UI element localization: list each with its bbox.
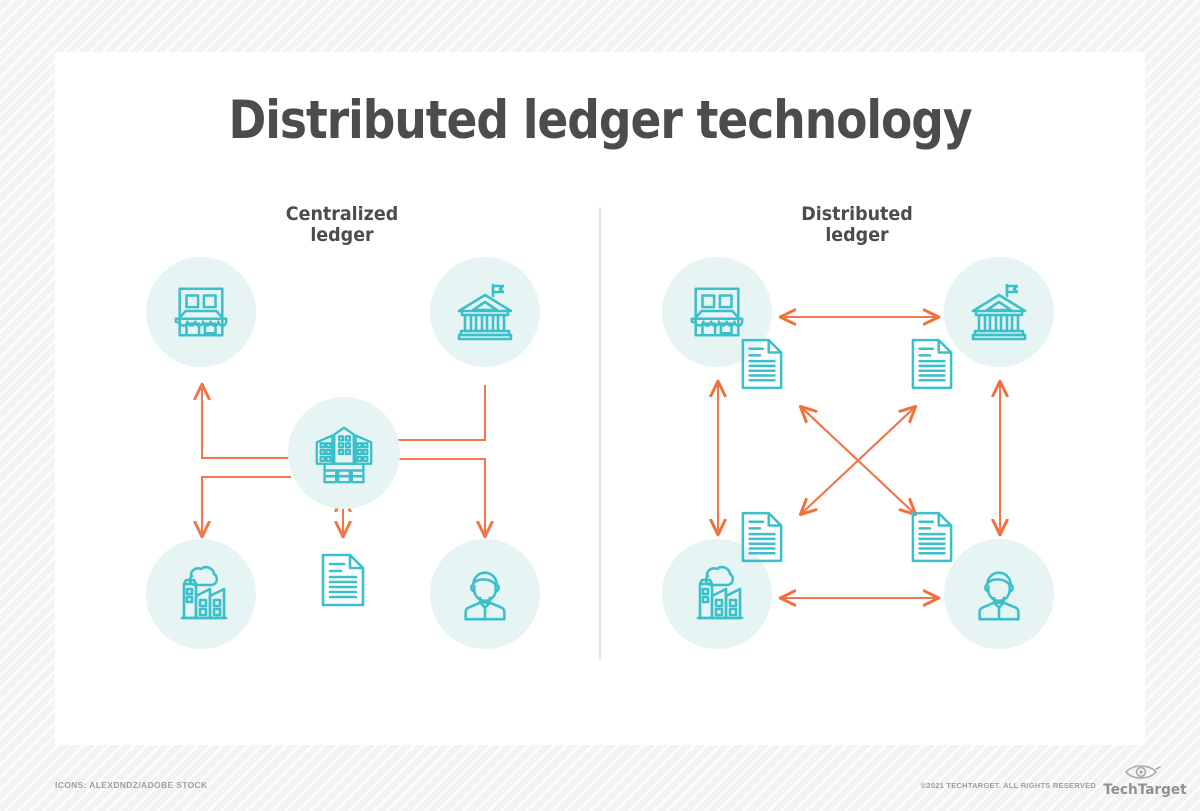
document-distributed-person[interactable] <box>910 510 954 564</box>
bank-icon <box>967 280 1031 344</box>
document-distributed-store[interactable] <box>740 337 784 391</box>
document-icon <box>910 337 954 391</box>
arrow-factory-bank <box>801 407 915 514</box>
arrow-hub-to-store <box>202 385 291 458</box>
arrow-store-person <box>801 407 915 514</box>
person-icon <box>968 563 1030 625</box>
document-distributed-factory[interactable] <box>740 510 784 564</box>
centralized-heading-line1: Centralized <box>213 204 471 225</box>
node-distributed-bank[interactable] <box>944 257 1054 367</box>
document-icon <box>740 510 784 564</box>
arrow-person-store <box>801 407 915 514</box>
content-card: Distributed ledger technology Centralize… <box>55 52 1145 745</box>
techtarget-logo: TechTarget <box>1100 760 1190 802</box>
document-icon <box>740 337 784 391</box>
arrow-bank-factory <box>801 407 915 514</box>
document-distributed-bank[interactable] <box>910 337 954 391</box>
distributed-heading-line1: Distributed <box>728 204 986 225</box>
node-centralized-bank[interactable] <box>430 257 540 367</box>
techtarget-wordmark: TechTarget <box>1103 782 1187 798</box>
copyright-notice: ©2021 TECHTARGET. ALL RIGHTS RESERVED <box>921 781 1096 790</box>
distributed-heading: Distributed ledger <box>728 204 986 246</box>
node-centralized-factory[interactable] <box>146 539 256 649</box>
node-centralized-store[interactable] <box>146 257 256 367</box>
document-icon <box>320 552 366 608</box>
distributed-heading-line2: ledger <box>728 225 986 246</box>
bank-icon <box>453 280 517 344</box>
icon-credit: ICONS: ALEXDNDZ/ADOBE STOCK <box>55 780 208 790</box>
centralized-heading: Centralized ledger <box>213 204 471 246</box>
section-divider <box>599 207 601 660</box>
infographic-page: Distributed ledger technology Centralize… <box>0 0 1200 811</box>
node-distributed-person[interactable] <box>944 539 1054 649</box>
store-icon <box>170 281 232 343</box>
factory-icon <box>169 562 233 626</box>
document-icon <box>910 510 954 564</box>
store-icon <box>686 281 748 343</box>
office-icon <box>309 420 379 486</box>
node-centralized-person[interactable] <box>430 539 540 649</box>
eye-icon <box>1126 766 1160 778</box>
page-title: Distributed ledger technology <box>131 90 1068 151</box>
factory-icon <box>685 562 749 626</box>
person-icon <box>454 563 516 625</box>
node-centralized-hub[interactable] <box>288 397 400 509</box>
centralized-heading-line2: ledger <box>213 225 471 246</box>
arrow-hub-to-factory <box>202 477 291 536</box>
document-centralized-ledger[interactable] <box>320 552 366 608</box>
